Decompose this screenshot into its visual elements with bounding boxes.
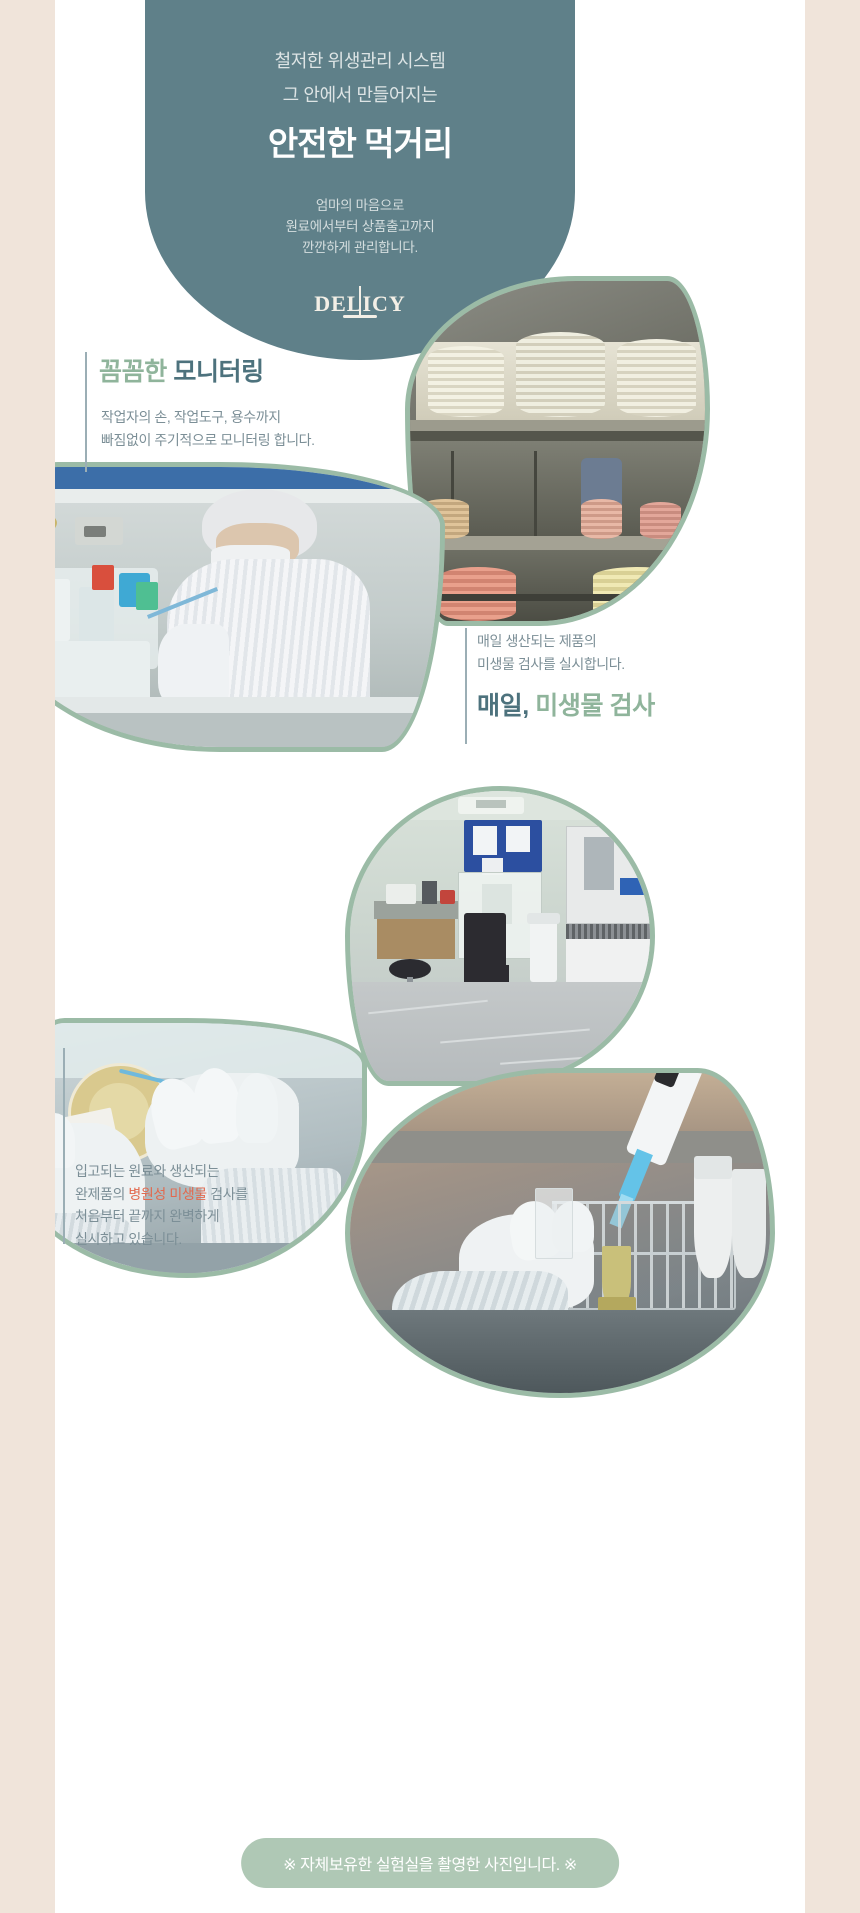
hero-line-1: 철저한 위생관리 시스템 (145, 52, 575, 70)
pathogen-body-line-2-post: 검사를 (207, 1186, 248, 1202)
hero-sub-line-3: 깐깐하게 관리합니다. (145, 238, 575, 259)
photo-bench-scene (55, 467, 440, 747)
daily-test-title-teal: 매일, (477, 692, 529, 720)
daily-test-body: 매일 생산되는 제품의 미생물 검사를 실시합니다. (477, 630, 625, 675)
pathogen-body: 입고되는 원료와 생산되는 완제품의 병원성 미생물 검사를 처음부터 끝까지 … (75, 1160, 248, 1251)
daily-test-title: 매일, 미생물 검사 (477, 692, 655, 721)
page-root: 철저한 위생관리 시스템 그 안에서 만들어지는 안전한 먹거리 엄마의 마음으… (0, 0, 860, 1913)
logo-stem-icon (359, 286, 361, 316)
monitoring-accent-line (85, 352, 87, 472)
daily-test-accent-line (465, 628, 467, 744)
brand-logo: DELICY (314, 291, 406, 317)
daily-test-body-line-2: 미생물 검사를 실시합니다. (477, 653, 625, 676)
hero-sub-line-1: 엄마의 마음으로 (145, 196, 575, 217)
pathogen-body-line-2-pre: 완제품의 (75, 1186, 128, 1202)
monitoring-title: 꼼꼼한 모니터링 (99, 358, 264, 387)
content-canvas: 철저한 위생관리 시스템 그 안에서 만들어지는 안전한 먹거리 엄마의 마음으… (55, 0, 805, 1913)
logo-base-icon (343, 315, 377, 318)
photo-lab-room (345, 786, 655, 1086)
hero-sub-line-2: 원료에서부터 상품출고까지 (145, 217, 575, 238)
hero-subtext: 엄마의 마음으로 원료에서부터 상품출고까지 깐깐하게 관리합니다. (145, 196, 575, 259)
pathogen-highlight: 병원성 미생물 (128, 1186, 206, 1202)
photo-bench-technician (55, 462, 445, 752)
daily-test-title-green: 미생물 검사 (535, 692, 655, 720)
monitoring-title-teal: 모니터링 (173, 358, 263, 386)
monitoring-body-line-2: 빠짐없이 주기적으로 모니터링 합니다. (101, 429, 315, 452)
photo-lab-scene (350, 791, 650, 1081)
pathogen-body-line-3: 처음부터 끝까지 완벽하게 (75, 1205, 248, 1228)
pathogen-body-line-2: 완제품의 병원성 미생물 검사를 (75, 1183, 248, 1206)
photo-pipette-rack (345, 1068, 775, 1398)
photo-pipette-scene (350, 1073, 770, 1393)
monitoring-body-line-1: 작업자의 손, 작업도구, 용수까지 (101, 406, 315, 429)
daily-test-body-line-1: 매일 생산되는 제품의 (477, 630, 625, 653)
photo-petri-shelves (405, 276, 710, 626)
pathogen-body-line-4: 실시하고 있습니다. (75, 1228, 248, 1251)
hero-line-2: 그 안에서 만들어지는 (145, 86, 575, 104)
pathogen-accent-line (63, 1048, 65, 1244)
footer-note: ※ 자체보유한 실험실을 촬영한 사진입니다. ※ (241, 1838, 619, 1888)
monitoring-body: 작업자의 손, 작업도구, 용수까지 빠짐없이 주기적으로 모니터링 합니다. (101, 406, 315, 451)
photo-petri-scene (410, 281, 705, 621)
monitoring-title-green: 꼼꼼한 (99, 358, 167, 386)
hero-headline: 안전한 먹거리 (145, 126, 575, 162)
pathogen-body-line-1: 입고되는 원료와 생산되는 (75, 1160, 248, 1183)
